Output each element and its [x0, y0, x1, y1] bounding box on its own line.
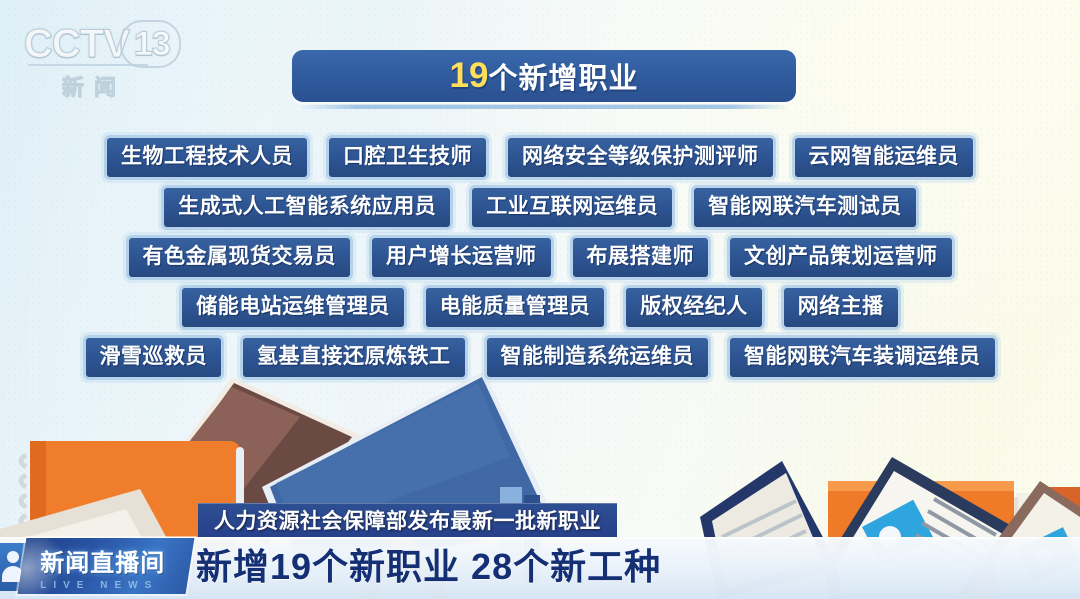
occupation-tag: 生物工程技术人员	[107, 138, 307, 177]
program-name-en: LIVE NEWS	[40, 580, 190, 591]
occupation-tag: 云网智能运维员	[795, 138, 974, 177]
avatar-head	[7, 551, 19, 563]
occupation-tag: 文创产品策划运营师	[730, 238, 952, 277]
lower-third-subtitle-banner: 人力资源社会保障部发布最新一批新职业	[198, 503, 617, 537]
headline-title-banner: 19 个新增职业	[292, 50, 796, 102]
tag-row: 储能电站运维管理员电能质量管理员版权经纪人网络主播	[0, 282, 1080, 332]
occupation-tag: 工业互联网运维员	[472, 188, 672, 227]
program-name-badge: 新闻直播间 LIVE NEWS	[18, 538, 195, 594]
new-occupations-tag-grid: 生物工程技术人员口腔卫生技师网络安全等级保护测评师云网智能运维员生成式人工智能系…	[0, 132, 1080, 382]
tag-row: 生成式人工智能系统应用员工业互联网运维员智能网联汽车测试员	[0, 182, 1080, 232]
occupation-tag: 布展搭建师	[573, 238, 709, 277]
logo-cctv-text: CCTV	[24, 22, 129, 66]
tag-row: 滑雪巡救员氢基直接还原炼铁工智能制造系统运维员智能网联汽车装调运维员	[0, 332, 1080, 382]
lower-third-headline: 新增19个新职业 28个新工种	[196, 541, 661, 593]
lower-third-subtitle: 人力资源社会保障部发布最新一批新职业	[214, 505, 601, 535]
occupation-tag: 生成式人工智能系统应用员	[164, 188, 450, 227]
occupation-tag: 氢基直接还原炼铁工	[243, 338, 465, 377]
occupation-tag: 用户增长运营师	[372, 238, 551, 277]
occupation-tag: 智能网联汽车测试员	[694, 188, 916, 227]
tag-row: 生物工程技术人员口腔卫生技师网络安全等级保护测评师云网智能运维员	[0, 132, 1080, 182]
logo-underline	[28, 64, 148, 66]
occupation-tag: 智能网联汽车装调运维员	[730, 338, 995, 377]
occupation-tag: 电能质量管理员	[426, 288, 605, 327]
logo-channel-number: 13	[120, 20, 181, 68]
logo-wordmark: CCTV 13	[24, 20, 192, 68]
occupation-tag: 储能电站运维管理员	[182, 288, 404, 327]
cctv-channel-logo: CCTV 13 新闻	[24, 20, 192, 96]
occupation-tag: 网络安全等级保护测评师	[508, 138, 773, 177]
occupation-tag: 有色金属现货交易员	[129, 238, 351, 277]
occupation-tag: 滑雪巡救员	[86, 338, 222, 377]
title-number: 19	[450, 56, 489, 96]
logo-subtitle: 新闻	[62, 70, 192, 102]
occupation-tag: 智能制造系统运维员	[487, 338, 709, 377]
occupation-tag: 网络主播	[784, 288, 898, 327]
broadcast-screen: CCTV 13 新闻 19 个新增职业 生物工程技术人员口腔卫生技师网络安全等级…	[0, 0, 1080, 599]
occupation-tag: 口腔卫生技师	[329, 138, 486, 177]
occupation-tag: 版权经纪人	[626, 288, 762, 327]
title-banner-shine	[298, 104, 790, 109]
title-text: 个新增职业	[488, 55, 638, 97]
tag-row: 有色金属现货交易员用户增长运营师布展搭建师文创产品策划运营师	[0, 232, 1080, 282]
program-name-cn: 新闻直播间	[40, 543, 190, 578]
